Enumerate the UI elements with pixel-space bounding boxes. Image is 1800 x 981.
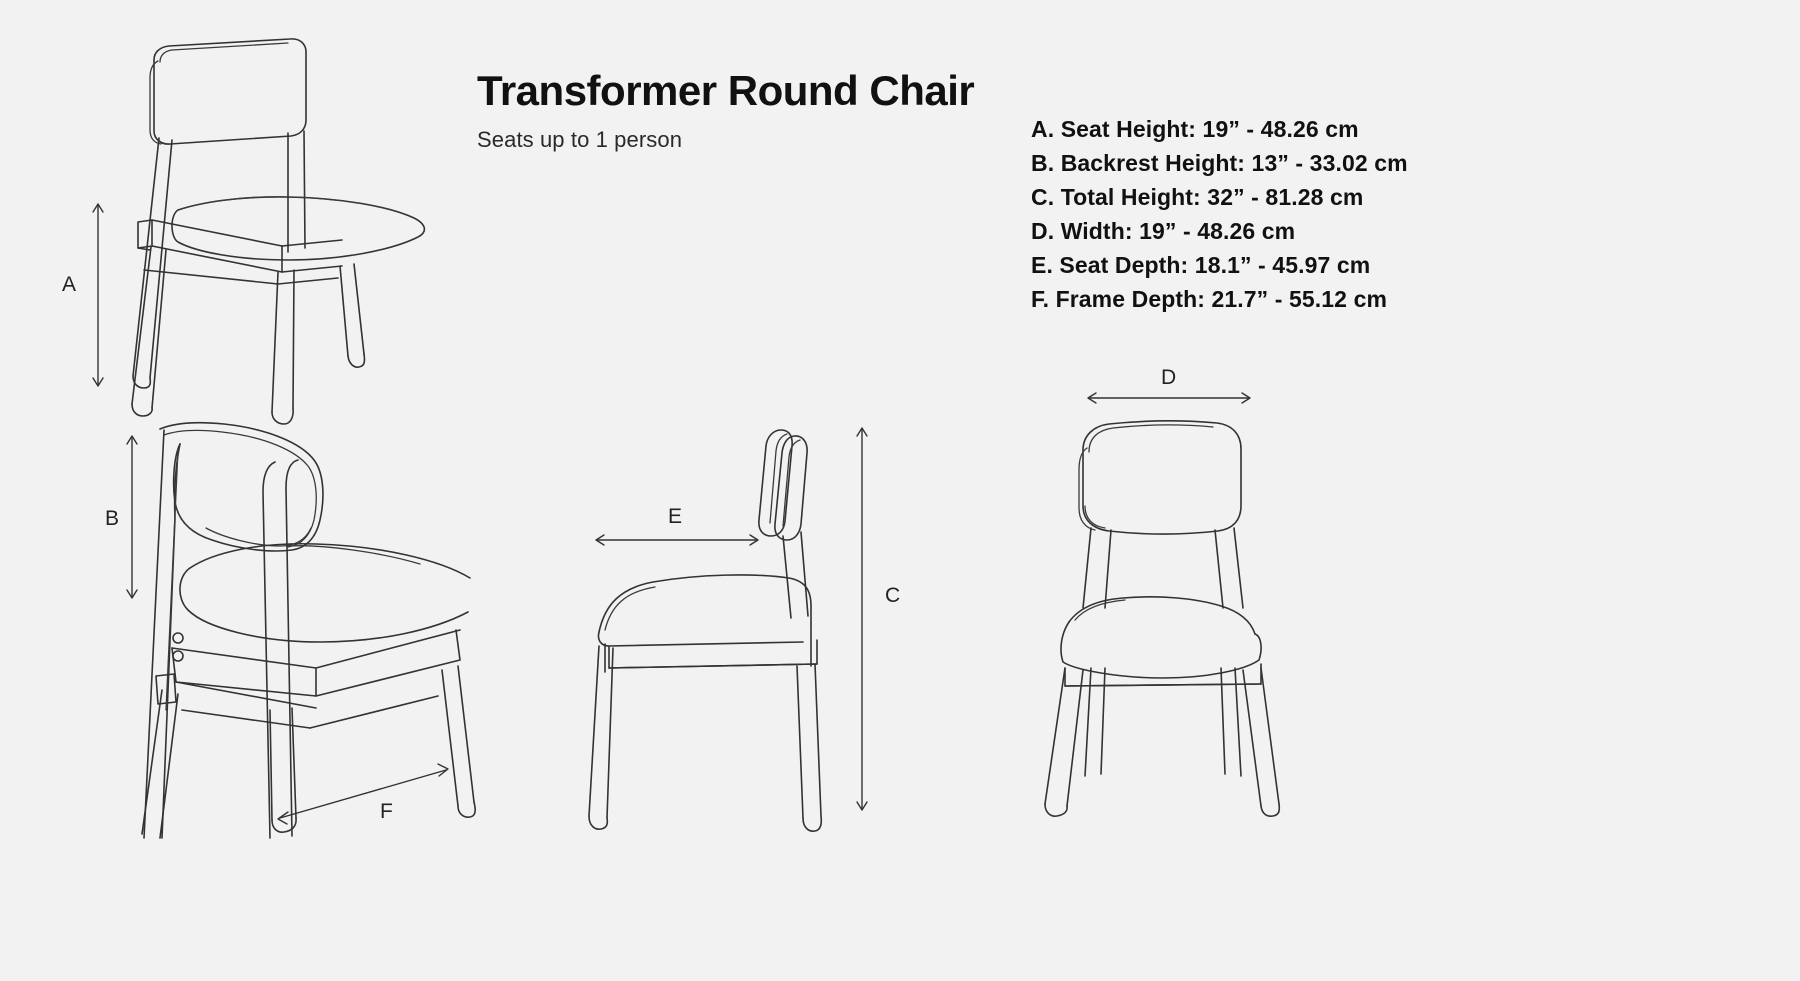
spec-item-a: A. Seat Height: 19” - 48.26 cm xyxy=(1031,112,1408,146)
dimension-line-e xyxy=(592,530,762,550)
page-title: Transformer Round Chair xyxy=(477,68,997,113)
backrest-panel-rear xyxy=(160,423,323,551)
dimension-label-a: A xyxy=(62,274,77,295)
dimension-label-e: E xyxy=(668,506,683,527)
front-leg-side xyxy=(589,646,613,829)
seat-frame-rail xyxy=(138,220,342,272)
chair-side-view xyxy=(575,420,865,840)
seat-cushion-rear xyxy=(180,544,470,642)
backrest-support-right xyxy=(1215,528,1243,608)
seat-apron-side xyxy=(605,624,817,672)
backrest-panel xyxy=(150,39,306,144)
chair-side-drawing xyxy=(575,420,865,840)
dimension-label-c: C xyxy=(885,585,901,606)
screw-hole-upper xyxy=(173,633,183,643)
specification-list: A. Seat Height: 19” - 48.26 cm B. Backre… xyxy=(1031,112,1408,316)
dimension-label-d: D xyxy=(1161,367,1177,388)
back-right-leg xyxy=(340,264,364,367)
dimension-label-b: B xyxy=(105,508,120,529)
dimension-line-f xyxy=(270,760,460,828)
back-right-stile xyxy=(288,131,305,252)
chair-front-view xyxy=(1035,368,1285,818)
spec-item-f: F. Frame Depth: 21.7” - 55.12 cm xyxy=(1031,282,1408,316)
seat-cushion-front xyxy=(1061,597,1261,678)
header-block: Transformer Round Chair Seats up to 1 pe… xyxy=(477,68,997,153)
rear-stretcher xyxy=(182,696,438,728)
spec-item-b: B. Backrest Height: 13” - 33.02 cm xyxy=(1031,146,1408,180)
seat-apron-front xyxy=(1065,664,1261,686)
seat-cushion-side xyxy=(598,575,811,646)
chair-dimension-spec-sheet: Transformer Round Chair Seats up to 1 pe… xyxy=(0,0,1800,981)
rear-leg-side xyxy=(797,664,821,831)
front-left-leg-front-view xyxy=(1045,668,1083,816)
backrest-front xyxy=(1079,421,1241,534)
spec-item-e: E. Seat Depth: 18.1” - 45.97 cm xyxy=(1031,248,1408,282)
front-right-leg-front-view xyxy=(1243,668,1279,816)
spec-item-d: D. Width: 19” - 48.26 cm xyxy=(1031,214,1408,248)
chair-front-drawing xyxy=(1035,368,1285,818)
front-right-leg xyxy=(272,270,294,424)
dimension-line-c xyxy=(852,424,872,814)
dimension-label-f: F xyxy=(380,801,393,822)
seat-cushion xyxy=(172,197,424,260)
dimension-line-b xyxy=(122,432,142,602)
spec-item-c: C. Total Height: 32” - 81.28 cm xyxy=(1031,180,1408,214)
dimension-line-a xyxy=(88,200,108,390)
screw-hole-lower xyxy=(173,651,183,661)
backrest-support-left xyxy=(1083,528,1111,608)
product-subtitle: Seats up to 1 person xyxy=(477,127,997,153)
rear-left-leg-front-view xyxy=(1085,668,1105,776)
backrest-side xyxy=(759,430,807,540)
dimension-line-d xyxy=(1084,388,1254,408)
chair-isometric-view xyxy=(92,34,432,434)
stretcher-rail xyxy=(144,270,338,284)
rear-stile-side xyxy=(783,532,808,618)
chair-isometric-drawing xyxy=(92,34,432,434)
